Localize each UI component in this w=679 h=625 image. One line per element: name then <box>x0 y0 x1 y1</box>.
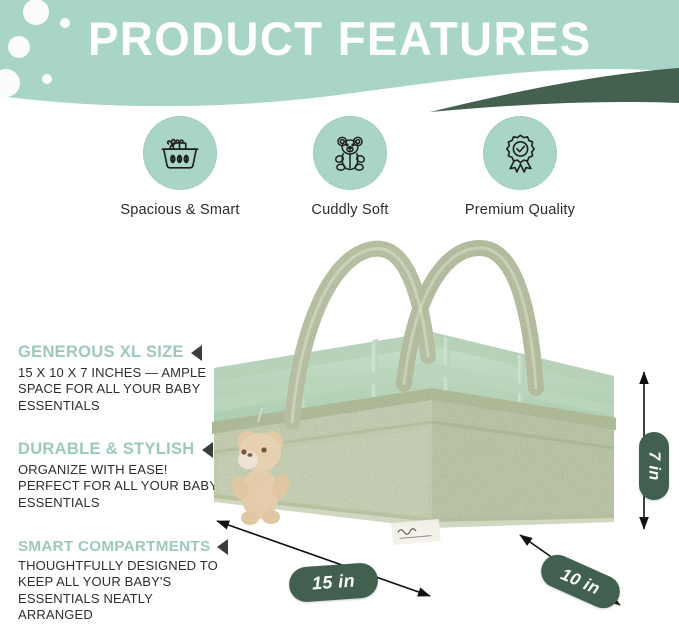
feature-icon-premium: Premium Quality <box>440 116 600 218</box>
dimension-height-text: 7 in <box>645 451 663 480</box>
feature-body: ORGANIZE WITH EASE! PERFECT FOR ALL YOUR… <box>18 462 223 511</box>
feature-heading-row: DURABLE & STYLISH <box>18 440 223 459</box>
basket-icon <box>143 116 217 190</box>
dimension-depth-text: 10 in <box>558 564 603 599</box>
page-title: PRODUCT FEATURES <box>88 14 612 63</box>
feature-heading-row: SMART COMPARTMENTS <box>18 538 223 555</box>
feature-block-durable-stylish: DURABLE & STYLISH ORGANIZE WITH EASE! PE… <box>18 440 223 511</box>
feature-icon-row: Spacious & Smart Cudd <box>100 116 600 226</box>
dimension-width-text: 15 in <box>311 571 355 595</box>
feature-heading: SMART COMPARTMENTS <box>18 538 210 555</box>
feature-icon-spacious: Spacious & Smart <box>100 116 260 218</box>
feature-body: 15 X 10 X 7 INCHES — AMPLE SPACE FOR ALL… <box>18 365 223 414</box>
header-banner: PRODUCT FEATURES <box>0 0 679 130</box>
feature-block-generous-xl-size: GENEROUS XL SIZE 15 X 10 X 7 INCHES — AM… <box>18 343 223 414</box>
icon-label: Cuddly Soft <box>311 202 388 218</box>
icon-label: Spacious & Smart <box>120 202 239 218</box>
award-badge-icon <box>483 116 557 190</box>
dimension-label-width: 15 in <box>288 562 379 603</box>
feature-body: THOUGHTFULLY DESIGNED TO KEEP ALL YOUR B… <box>18 558 223 623</box>
feature-heading-row: GENEROUS XL SIZE <box>18 343 223 362</box>
product-image-diaper-caddy <box>196 236 626 566</box>
feature-heading: GENEROUS XL SIZE <box>18 343 184 362</box>
brand-label-tag <box>391 519 441 545</box>
feature-heading: DURABLE & STYLISH <box>18 440 195 459</box>
bubble-decor <box>23 0 49 25</box>
dimension-label-height: 7 in <box>639 432 669 500</box>
feature-icon-cuddly: Cuddly Soft <box>270 116 430 218</box>
bubble-decor <box>60 18 70 28</box>
teddy-bear-icon <box>313 116 387 190</box>
bubble-decor <box>42 74 52 84</box>
icon-label: Premium Quality <box>465 202 575 218</box>
feature-block-smart-compartments: SMART COMPARTMENTS THOUGHTFULLY DESIGNED… <box>18 538 223 623</box>
bubble-decor <box>8 36 30 58</box>
